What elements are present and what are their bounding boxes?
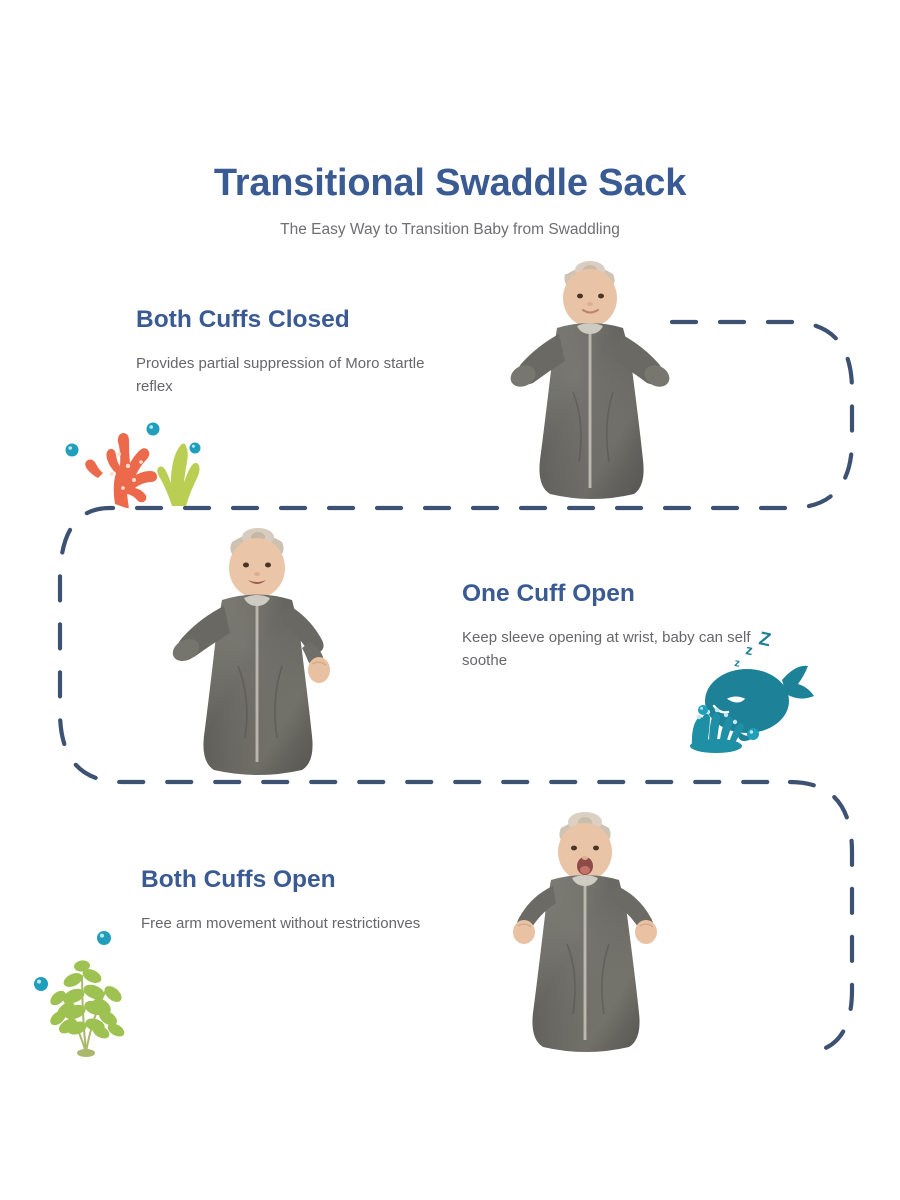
bubble — [97, 931, 111, 945]
section-both-cuffs-open: Both Cuffs Open Free arm movement withou… — [141, 866, 420, 935]
bubble — [190, 443, 201, 454]
section-heading: One Cuff Open — [462, 580, 762, 608]
section-body: Free arm movement without restrictionves — [141, 912, 420, 935]
page-subtitle: The Easy Way to Transition Baby from Swa… — [0, 221, 900, 240]
section-both-cuffs-closed: Both Cuffs Closed Provides partial suppr… — [136, 306, 436, 399]
header: Transitional Swaddle Sack The Easy Way t… — [0, 163, 900, 239]
green-seaweed-plant-icon — [28, 918, 153, 1058]
coral-shape — [85, 433, 157, 508]
plant-leaves — [48, 959, 127, 1041]
section-body: Provides partial suppression of Moro sta… — [136, 352, 436, 399]
bubble — [147, 423, 160, 436]
bubble — [34, 977, 48, 991]
bubble — [698, 705, 708, 715]
bubble — [66, 444, 79, 457]
infographic-page: Transitional Swaddle Sack The Easy Way t… — [0, 0, 900, 1200]
coral-and-seaweed-icon — [62, 418, 207, 508]
product-photo-both-cuffs-open — [489, 806, 681, 1058]
sleep-zzz-text: Z z z — [734, 628, 773, 669]
section-heading: Both Cuffs Closed — [136, 306, 436, 334]
sleeping-whale-icon: Z z z — [690, 618, 830, 753]
svg-text:Z: Z — [757, 628, 773, 651]
section-heading: Both Cuffs Open — [141, 866, 420, 894]
svg-text:z: z — [744, 641, 754, 658]
bubble — [747, 728, 759, 740]
product-photo-both-cuffs-closed — [495, 252, 685, 506]
product-photo-one-cuff-open — [162, 518, 352, 782]
svg-text:z: z — [734, 657, 742, 670]
page-title: Transitional Swaddle Sack — [0, 163, 900, 205]
